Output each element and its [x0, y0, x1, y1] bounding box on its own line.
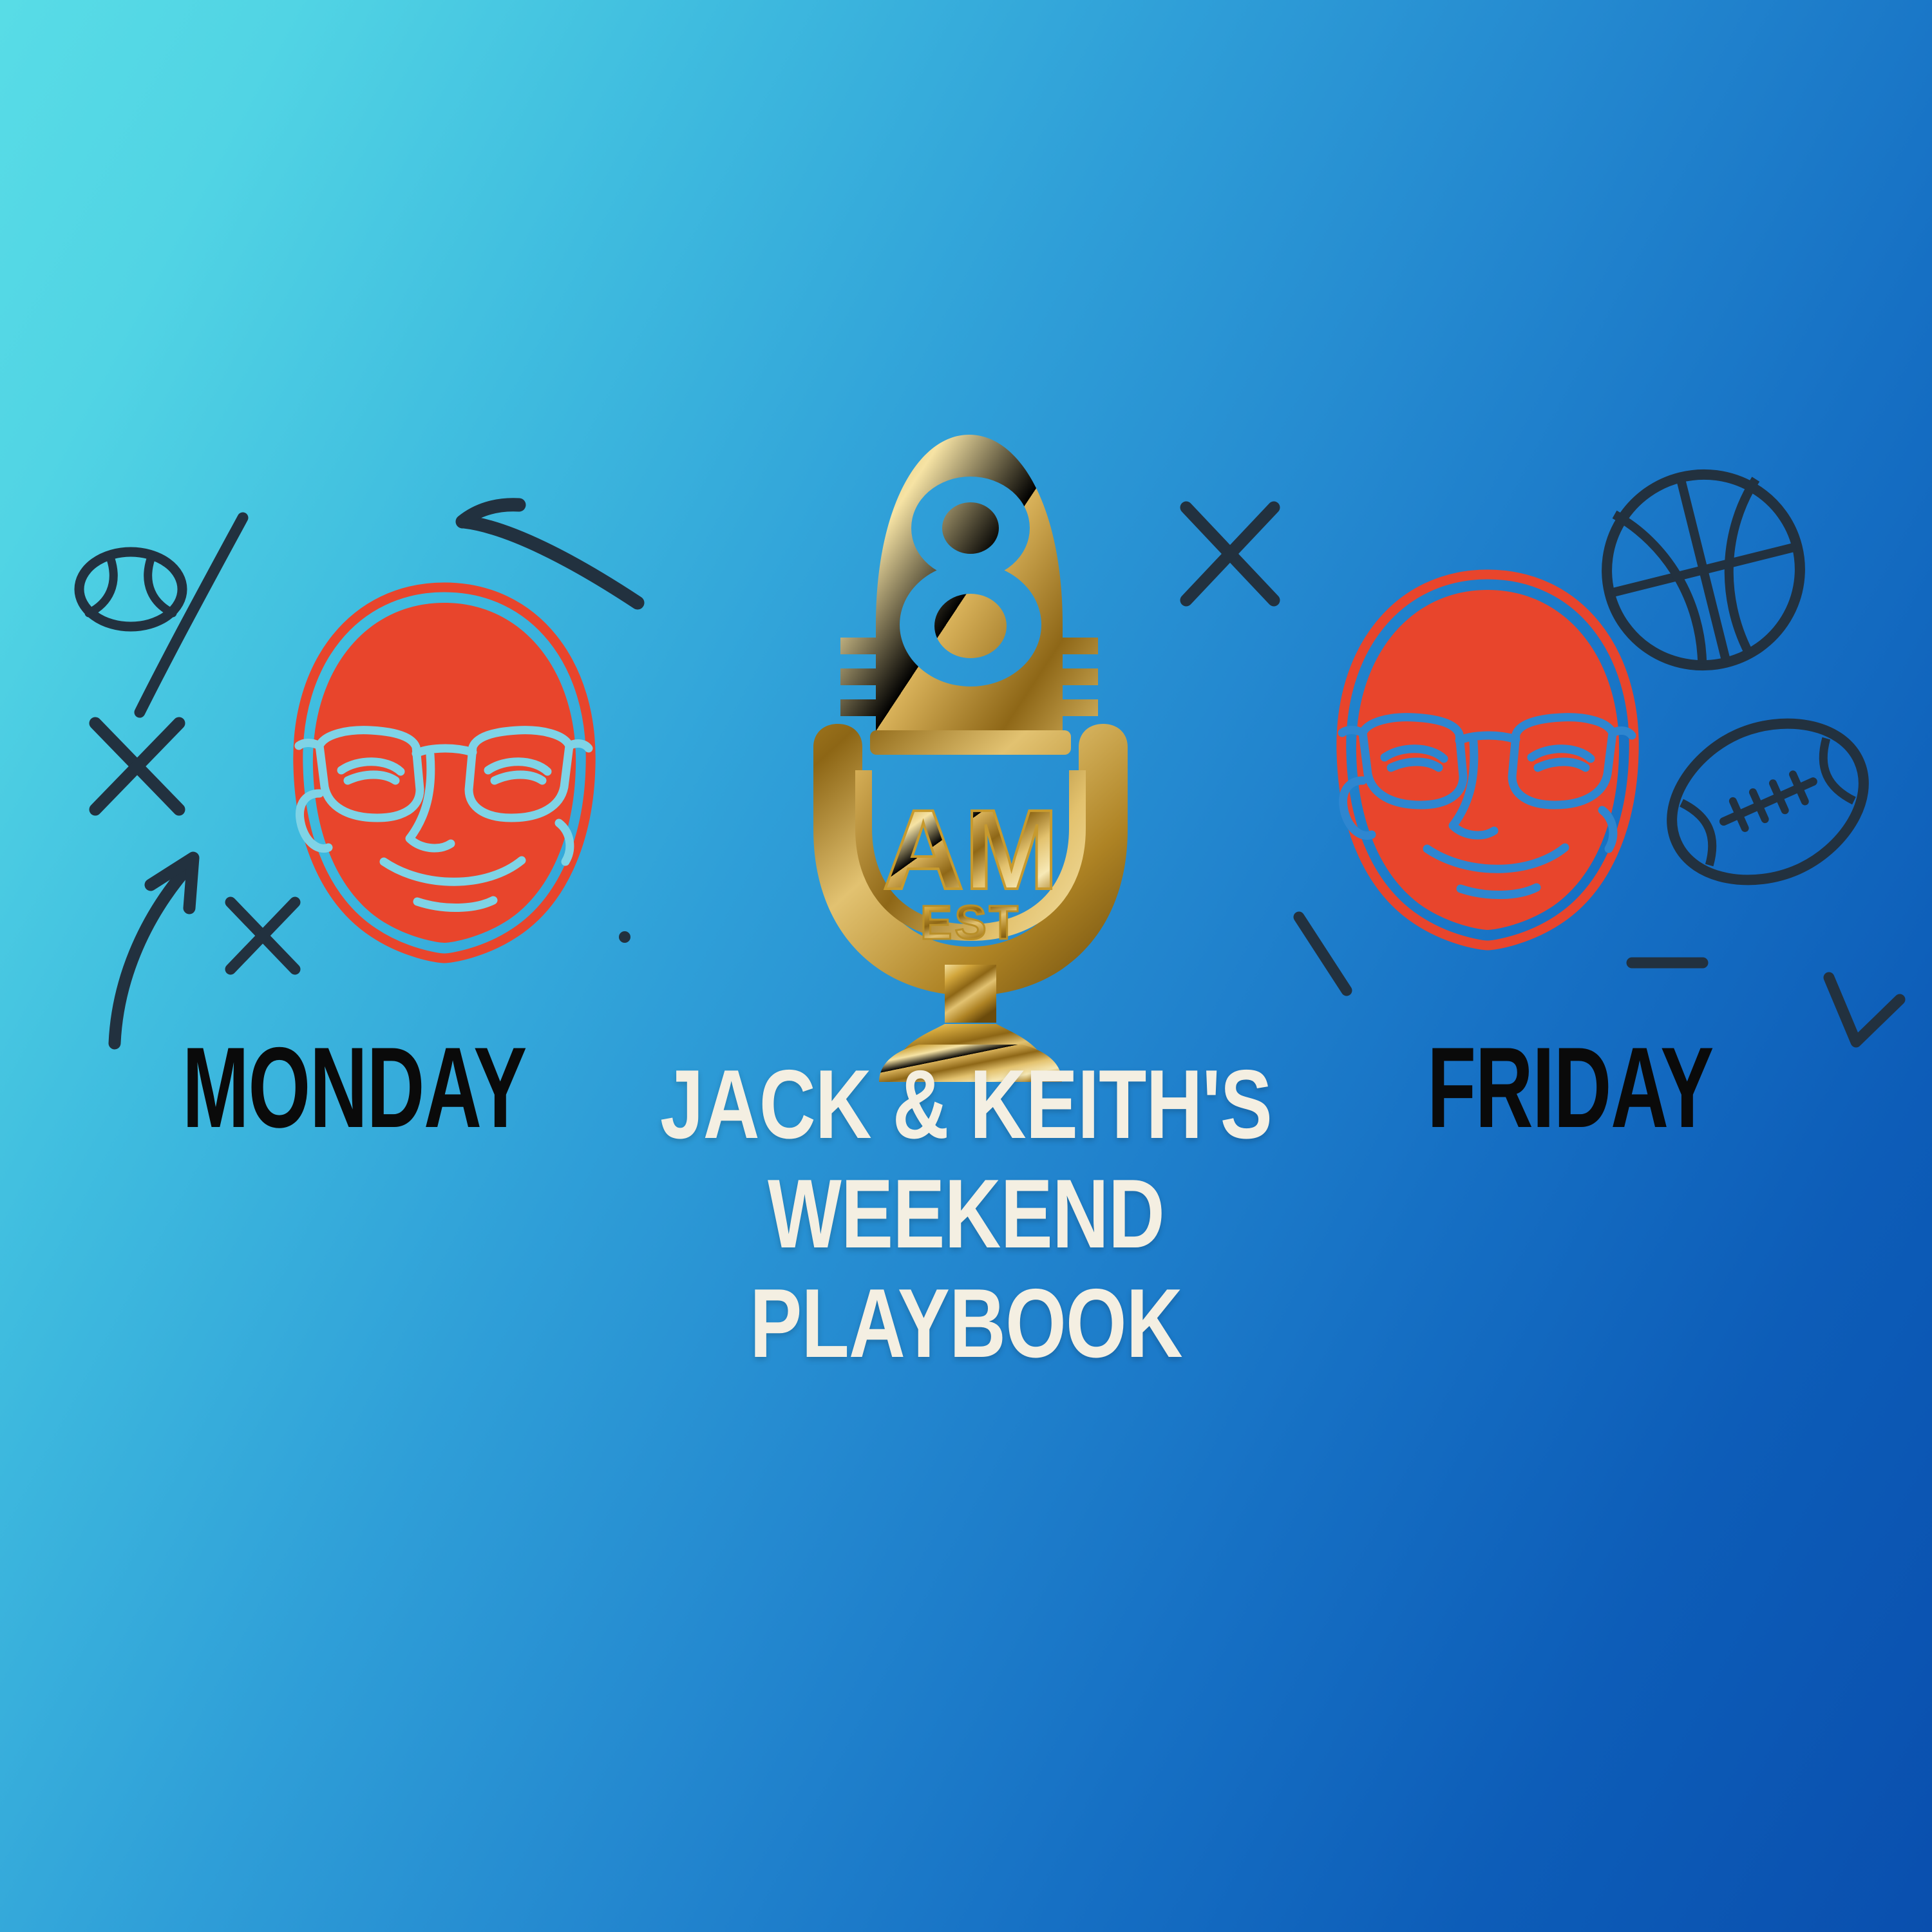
microphone-am-text: AM	[882, 787, 1059, 913]
basketball-doodle	[1597, 464, 1810, 676]
football-doodle	[1649, 708, 1887, 895]
microphone-est-text: EST	[920, 896, 1021, 949]
show-title-line-3: PLAYBOOK	[193, 1269, 1739, 1378]
microphone-logo: AM EST 8	[744, 412, 1195, 1095]
tick-slash-doodle	[1285, 908, 1362, 1005]
left-host-portrait	[258, 541, 631, 979]
checkmark-doodle	[1816, 966, 1913, 1063]
show-title: JACK & KEITH'S WEEKEND PLAYBOOK	[0, 1050, 1932, 1379]
podcast-cover-art: AM EST 8 MONDAY FRIDAY JACK & KEITH'S WE…	[0, 0, 1932, 1932]
x-mark-doodle-1	[82, 712, 192, 821]
show-title-line-1: JACK & KEITH'S	[193, 1050, 1739, 1159]
show-title-line-2: WEEKEND	[193, 1159, 1739, 1269]
dash-doodle	[1623, 947, 1713, 979]
diagonal-slash-doodle	[126, 509, 254, 721]
